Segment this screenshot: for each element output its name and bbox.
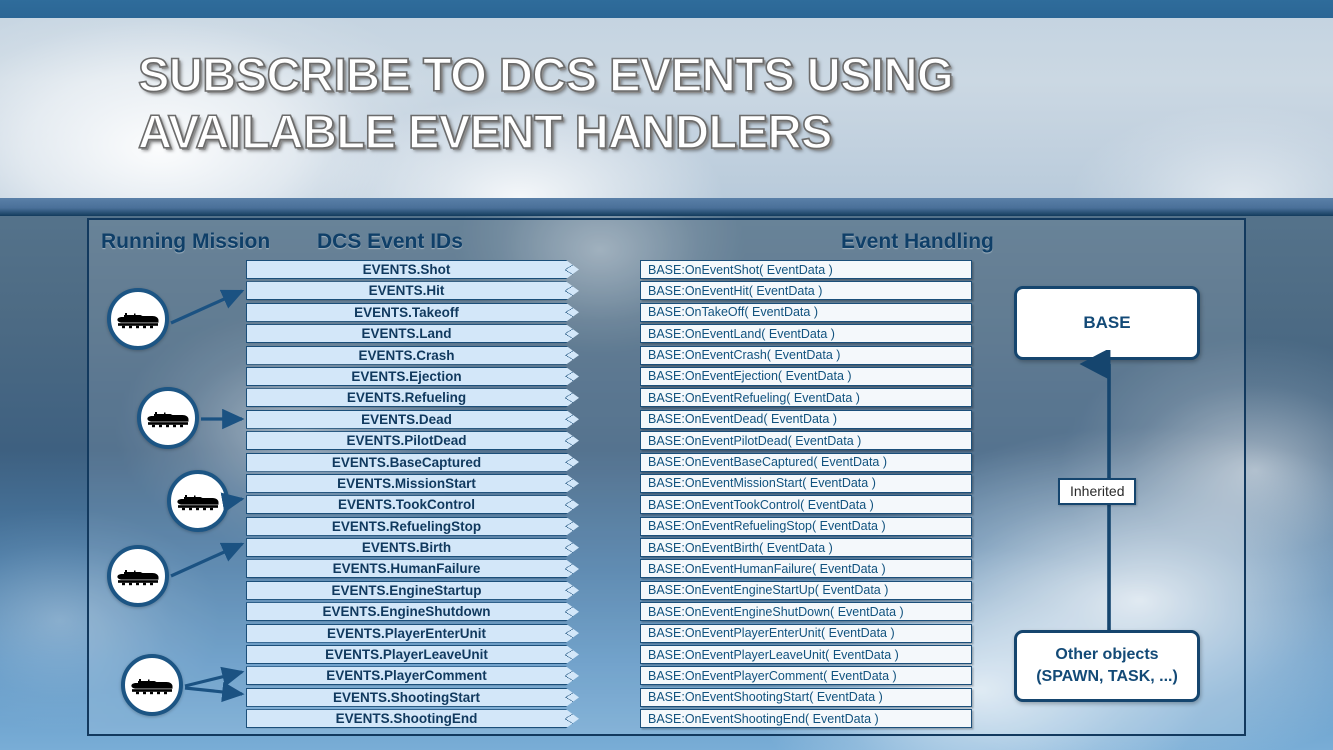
event-handler-item[interactable]: BASE:OnEventBaseCaptured( EventData ) [640, 453, 972, 472]
event-handler-item[interactable]: BASE:OnEventPlayerLeaveUnit( EventData ) [640, 645, 972, 664]
event-id-item[interactable]: EVENTS.Refueling [246, 388, 579, 407]
event-id-item[interactable]: EVENTS.Takeoff [246, 303, 579, 322]
event-id-item[interactable]: EVENTS.Hit [246, 281, 579, 300]
event-handler-item[interactable]: BASE:OnEventPilotDead( EventData ) [640, 431, 972, 450]
event-handler-item[interactable]: BASE:OnEventShootingStart( EventData ) [640, 688, 972, 707]
event-handler-item[interactable]: BASE:OnEventRefueling( EventData ) [640, 388, 972, 407]
event-handler-item[interactable]: BASE:OnEventDead( EventData ) [640, 410, 972, 429]
tank-icon-5 [121, 654, 183, 716]
diagram-panel: Running Mission DCS Event IDs Event Hand… [87, 218, 1246, 736]
event-id-item[interactable]: EVENTS.HumanFailure [246, 559, 579, 578]
event-handler-item[interactable]: BASE:OnEventShootingEnd( EventData ) [640, 709, 972, 728]
event-handler-item[interactable]: BASE:OnEventCrash( EventData ) [640, 346, 972, 365]
event-handler-item[interactable]: BASE:OnEventRefuelingStop( EventData ) [640, 517, 972, 536]
tank-icon-4 [107, 545, 169, 607]
event-handler-item[interactable]: BASE:OnEventHumanFailure( EventData ) [640, 559, 972, 578]
event-id-item[interactable]: EVENTS.PlayerComment [246, 666, 579, 685]
event-id-item[interactable]: EVENTS.Shot [246, 260, 579, 279]
inheritance-label: Inherited [1058, 478, 1136, 505]
event-handler-item[interactable]: BASE:OnEventTookControl( EventData ) [640, 495, 972, 514]
tank-icon-1 [107, 288, 169, 350]
event-id-item[interactable]: EVENTS.Land [246, 324, 579, 343]
event-handler-list: BASE:OnEventShot( EventData ) BASE:OnEve… [640, 260, 972, 731]
tank-icon-3 [167, 470, 229, 532]
event-handler-item[interactable]: BASE:OnEventLand( EventData ) [640, 324, 972, 343]
event-handler-item[interactable]: BASE:OnEventPlayerComment( EventData ) [640, 666, 972, 685]
class-box-base[interactable]: BASE [1014, 286, 1200, 360]
event-id-item[interactable]: EVENTS.ShootingStart [246, 688, 579, 707]
event-id-item[interactable]: EVENTS.PlayerEnterUnit [246, 624, 579, 643]
event-id-item[interactable]: EVENTS.Crash [246, 346, 579, 365]
tank-glyph [146, 406, 190, 430]
title-band-divider [0, 198, 1333, 216]
column-header-dcs-event-ids: DCS Event IDs [317, 230, 463, 254]
tank-glyph [116, 307, 160, 331]
top-accent-strip [0, 0, 1333, 18]
event-handler-item[interactable]: BASE:OnEventShot( EventData ) [640, 260, 972, 279]
tank-glyph [116, 564, 160, 588]
event-id-item[interactable]: EVENTS.Ejection [246, 367, 579, 386]
event-handler-item[interactable]: BASE:OnTakeOff( EventData ) [640, 303, 972, 322]
column-header-event-handling: Event Handling [841, 230, 994, 254]
event-id-item[interactable]: EVENTS.ShootingEnd [246, 709, 579, 728]
tank-glyph [176, 489, 220, 513]
event-id-item[interactable]: EVENTS.Birth [246, 538, 579, 557]
event-handler-item[interactable]: BASE:OnEventHit( EventData ) [640, 281, 972, 300]
class-box-other-objects[interactable]: Other objects (SPAWN, TASK, ...) [1014, 630, 1200, 702]
event-handler-item[interactable]: BASE:OnEventPlayerEnterUnit( EventData ) [640, 624, 972, 643]
page-title: SUBSCRIBE TO DCS EVENTS USING AVAILABLE … [138, 46, 1138, 161]
event-handler-item[interactable]: BASE:OnEventMissionStart( EventData ) [640, 474, 972, 493]
event-id-item[interactable]: EVENTS.EngineShutdown [246, 602, 579, 621]
event-handler-item[interactable]: BASE:OnEventEjection( EventData ) [640, 367, 972, 386]
column-header-running-mission: Running Mission [101, 230, 270, 254]
event-id-item[interactable]: EVENTS.EngineStartup [246, 581, 579, 600]
event-handler-item[interactable]: BASE:OnEventEngineShutDown( EventData ) [640, 602, 972, 621]
event-handler-item[interactable]: BASE:OnEventBirth( EventData ) [640, 538, 972, 557]
event-handler-item[interactable]: BASE:OnEventEngineStartUp( EventData ) [640, 581, 972, 600]
event-id-item[interactable]: EVENTS.RefuelingStop [246, 517, 579, 536]
tank-glyph [130, 673, 174, 697]
event-id-item[interactable]: EVENTS.PilotDead [246, 431, 579, 450]
event-id-item[interactable]: EVENTS.TookControl [246, 495, 579, 514]
event-id-list: EVENTS.Shot EVENTS.Hit EVENTS.Takeoff EV… [246, 260, 579, 731]
event-id-item[interactable]: EVENTS.PlayerLeaveUnit [246, 645, 579, 664]
tank-icon-2 [137, 387, 199, 449]
event-id-item[interactable]: EVENTS.Dead [246, 410, 579, 429]
event-id-item[interactable]: EVENTS.MissionStart [246, 474, 579, 493]
event-id-item[interactable]: EVENTS.BaseCaptured [246, 453, 579, 472]
